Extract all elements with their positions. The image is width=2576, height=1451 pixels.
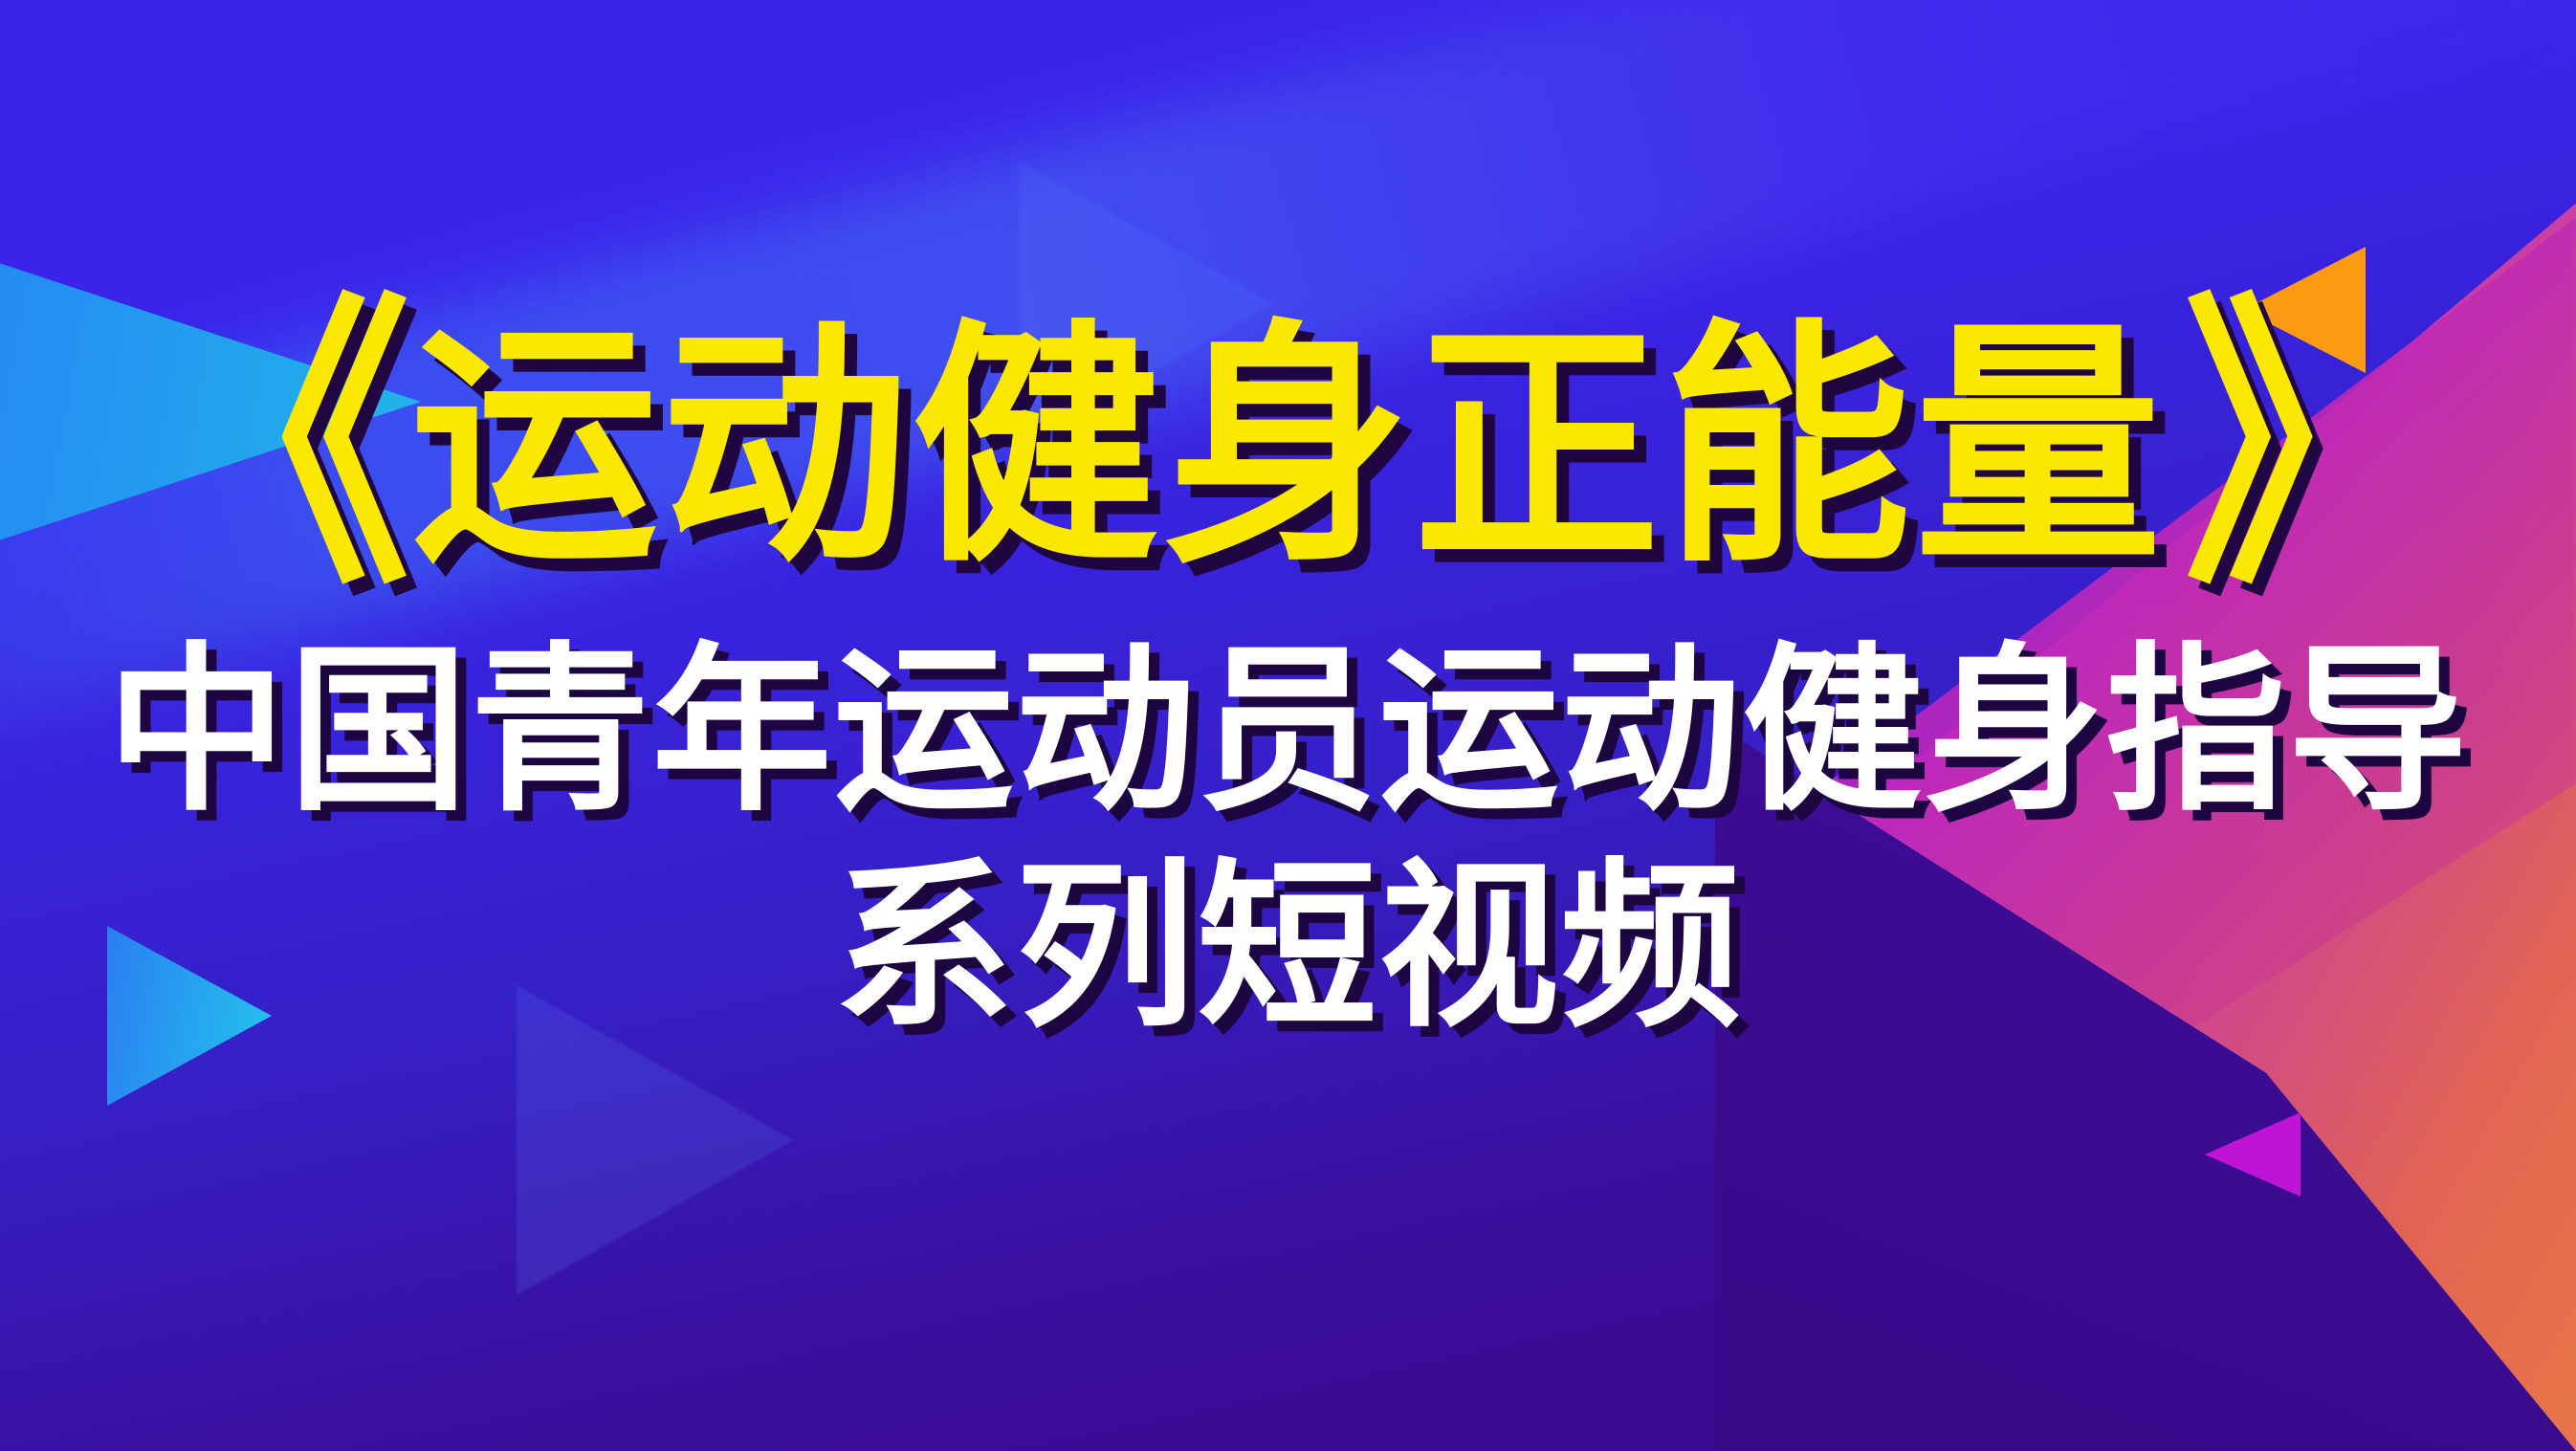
poster-content: 《 运动健身正能量 》 中国青年运动员运动健身指导 系列短视频	[0, 0, 2576, 1451]
poster-subtitle: 中国青年运动员运动健身指导 系列短视频	[107, 626, 2470, 1054]
subtitle-line-2: 系列短视频	[107, 842, 2470, 1054]
subtitle-line-1: 中国青年运动员运动健身指导	[107, 626, 2470, 838]
poster-canvas: 《 运动健身正能量 》 中国青年运动员运动健身指导 系列短视频	[0, 0, 2576, 1451]
title-close-bracket: 》	[2184, 296, 2431, 600]
poster-title: 《 运动健身正能量 》	[136, 304, 2441, 591]
title-text: 运动健身正能量	[411, 313, 2166, 583]
title-open-bracket: 《	[146, 296, 393, 600]
